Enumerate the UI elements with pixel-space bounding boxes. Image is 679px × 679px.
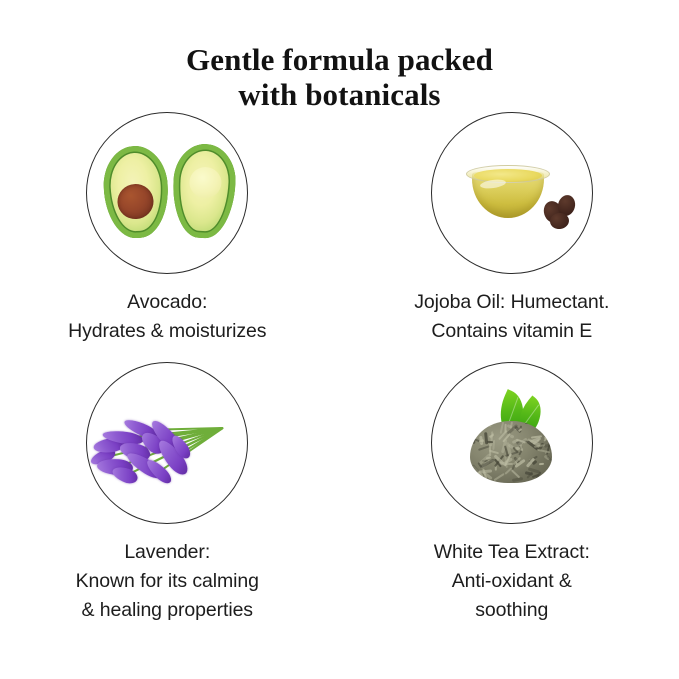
dried-tea-strand bbox=[547, 455, 552, 467]
lavender-bunch bbox=[95, 401, 243, 493]
jojoba-oil-bowl-image bbox=[432, 113, 592, 273]
dried-tea-strand bbox=[544, 476, 547, 482]
white-tea-leaves-image bbox=[432, 363, 592, 523]
white-tea-image-circle bbox=[431, 362, 593, 524]
avocado-half-with-pit bbox=[102, 144, 171, 239]
caption-line: Avocado: bbox=[68, 288, 266, 317]
jojoba-oil-caption: Jojoba Oil: Humectant. Contains vitamin … bbox=[414, 288, 609, 346]
caption-line: Known for its calming bbox=[76, 567, 259, 596]
caption-line: & healing properties bbox=[76, 596, 259, 625]
title-line-2: with botanicals bbox=[0, 77, 679, 112]
dried-tea-strand bbox=[534, 424, 543, 428]
dried-tea-strand bbox=[510, 434, 515, 438]
avocado-image-circle bbox=[86, 112, 248, 274]
caption-line: Jojoba Oil: Humectant. bbox=[414, 288, 609, 317]
caption-line: Anti-oxidant & bbox=[434, 567, 590, 596]
ingredient-card-jojoba-oil: Jojoba Oil: Humectant. Contains vitamin … bbox=[335, 112, 679, 346]
lavender-image-circle bbox=[86, 362, 248, 524]
white-tea-caption: White Tea Extract: Anti-oxidant & soothi… bbox=[434, 538, 590, 625]
caption-line: soothing bbox=[434, 596, 590, 625]
avocado-caption: Avocado: Hydrates & moisturizes bbox=[68, 288, 266, 346]
ingredients-row-1: Avocado: Hydrates & moisturizes bbox=[0, 112, 679, 346]
ingredients-row-2: Lavender: Known for its calming & healin… bbox=[0, 362, 679, 625]
oil-surface bbox=[474, 169, 542, 182]
caption-line: Contains vitamin E bbox=[414, 317, 609, 346]
jojoba-seed bbox=[549, 212, 570, 230]
title-line-1: Gentle formula packed bbox=[0, 42, 679, 77]
dried-tea-strand bbox=[493, 440, 496, 450]
ingredients-infographic: Gentle formula packed with botanicals bbox=[0, 0, 679, 679]
dried-tea-strand bbox=[525, 422, 530, 424]
avocado-halves-image bbox=[87, 113, 247, 273]
ingredient-card-white-tea-extract: White Tea Extract: Anti-oxidant & soothi… bbox=[335, 362, 679, 625]
ingredients-grid: Avocado: Hydrates & moisturizes bbox=[0, 112, 679, 625]
caption-line: Hydrates & moisturizes bbox=[68, 317, 266, 346]
avocado-pit bbox=[117, 183, 155, 220]
dried-tea-strand bbox=[538, 463, 543, 466]
dried-tea-leaf-pile bbox=[470, 421, 552, 483]
avocado-pit-cavity bbox=[189, 166, 223, 199]
dried-tea-strand bbox=[532, 460, 538, 465]
avocado-half-without-pit bbox=[171, 142, 238, 239]
dried-tea-strand bbox=[479, 469, 492, 473]
jojoba-oil-image-circle bbox=[431, 112, 593, 274]
caption-line: White Tea Extract: bbox=[434, 538, 590, 567]
ingredient-card-lavender: Lavender: Known for its calming & healin… bbox=[0, 362, 335, 625]
page-title: Gentle formula packed with botanicals bbox=[0, 42, 679, 112]
lavender-bunch-image bbox=[87, 363, 247, 523]
caption-line: Lavender: bbox=[76, 538, 259, 567]
lavender-caption: Lavender: Known for its calming & healin… bbox=[76, 538, 259, 625]
glass-bowl bbox=[466, 165, 550, 221]
dried-tea-strand bbox=[511, 469, 521, 478]
dried-tea-strand bbox=[488, 444, 490, 456]
ingredient-card-avocado: Avocado: Hydrates & moisturizes bbox=[0, 112, 335, 346]
dried-tea-strand bbox=[472, 437, 475, 445]
dried-tea-strand bbox=[493, 473, 504, 481]
